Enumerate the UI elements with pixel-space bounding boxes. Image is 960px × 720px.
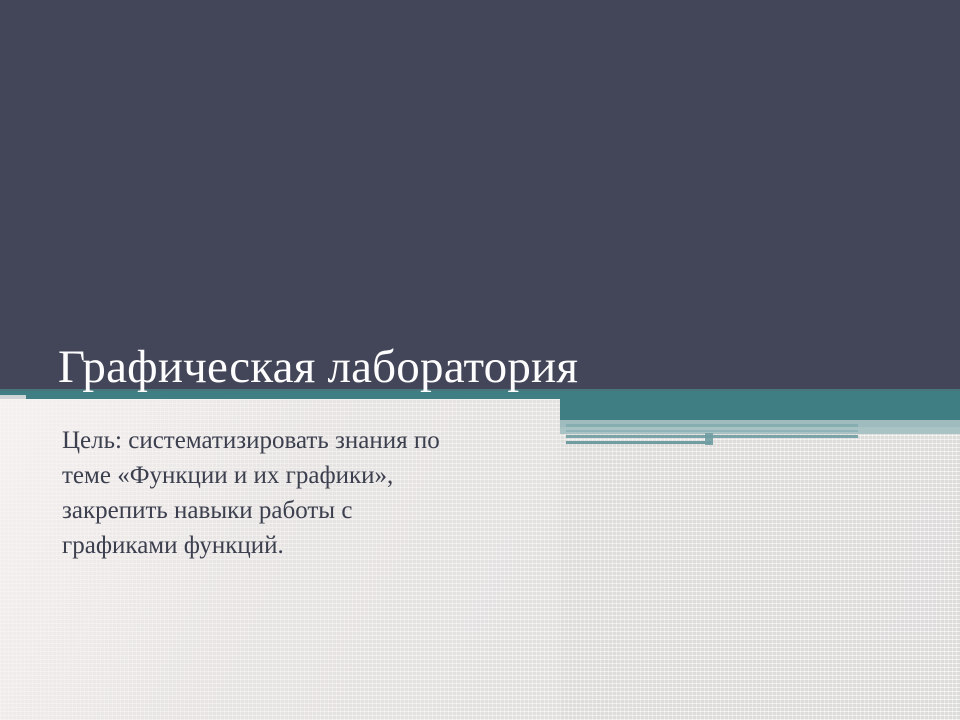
slide-title: Графическая лаборатория xyxy=(58,342,878,393)
decorative-rule-1 xyxy=(566,424,858,427)
slide-body-text: Цель: систематизировать знания по теме «… xyxy=(62,423,532,563)
slide-body-line-2: теме «Функции и их графики», xyxy=(62,458,532,493)
presentation-slide: Графическая лаборатория Цель: систематиз… xyxy=(0,0,960,720)
decorative-rule-cap xyxy=(705,433,713,445)
decorative-rule-group xyxy=(566,424,858,446)
slide-dark-background xyxy=(0,0,960,395)
decorative-rule-4 xyxy=(566,441,711,444)
slide-body-line-1: Цель: систематизировать знания по xyxy=(62,423,532,458)
slide-body-line-4: графиками функций. xyxy=(62,528,532,563)
decorative-rule-2 xyxy=(566,430,858,432)
slide-body-line-3: закрепить навыки работы с xyxy=(62,493,532,528)
